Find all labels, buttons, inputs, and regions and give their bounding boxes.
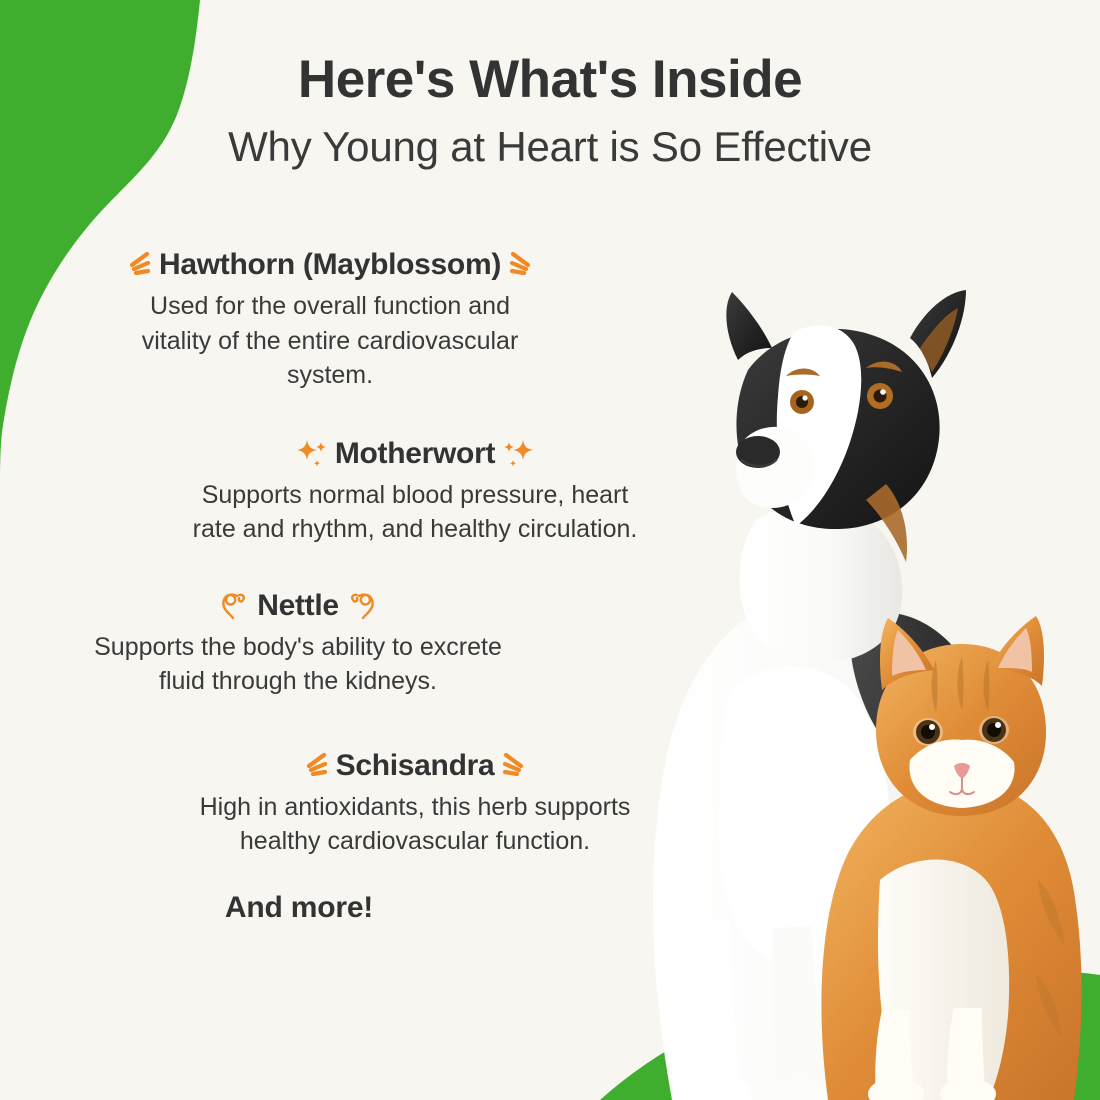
page-subtitle: Why Young at Heart is So Effective: [0, 124, 1100, 170]
dog-and-cat-photo: [580, 220, 1100, 1100]
swirl-icon: [345, 589, 379, 623]
ingredient-name: Motherwort: [335, 437, 495, 471]
ingredient-description: Used for the overall function and vitali…: [20, 289, 640, 393]
ingredient-title-row: Motherwort: [105, 437, 725, 471]
ingredient-name: Nettle: [257, 589, 339, 623]
burst-icon: [500, 751, 530, 781]
ingredient-list: Hawthorn (Mayblossom) Used for the overa…: [0, 248, 620, 925]
ingredient-description: High in antioxidants, this herb supports…: [105, 790, 725, 859]
ingredient-nettle: Nettle Supports the body's ability to ex…: [0, 589, 608, 699]
ingredient-hawthorn: Hawthorn (Mayblossom) Used for the overa…: [20, 248, 640, 393]
ingredient-title-row: Nettle: [0, 589, 608, 623]
burst-icon: [123, 250, 153, 280]
ingredient-title-row: Hawthorn (Mayblossom): [20, 248, 640, 282]
ingredient-description: Supports the body's ability to excrete f…: [0, 630, 608, 699]
heading-block: Here's What's Inside Why Young at Heart …: [0, 52, 1100, 170]
sparkle-icon: [293, 438, 329, 470]
burst-icon: [507, 250, 537, 280]
swirl-icon: [217, 589, 251, 623]
sparkle-icon: [501, 438, 537, 470]
ingredient-description: Supports normal blood pressure, heart ra…: [105, 478, 725, 547]
ingredient-schisandra: Schisandra High in antioxidants, this he…: [105, 749, 725, 859]
infographic-card: Here's What's Inside Why Young at Heart …: [0, 0, 1100, 1100]
ingredient-name: Schisandra: [336, 749, 495, 783]
and-more-text: And more!: [0, 891, 620, 925]
ingredient-title-row: Schisandra: [105, 749, 725, 783]
page-title: Here's What's Inside: [0, 52, 1100, 108]
ingredient-name: Hawthorn (Mayblossom): [159, 248, 501, 282]
burst-icon: [300, 751, 330, 781]
ingredient-motherwort: Motherwort Supports normal blood pressur…: [105, 437, 725, 547]
